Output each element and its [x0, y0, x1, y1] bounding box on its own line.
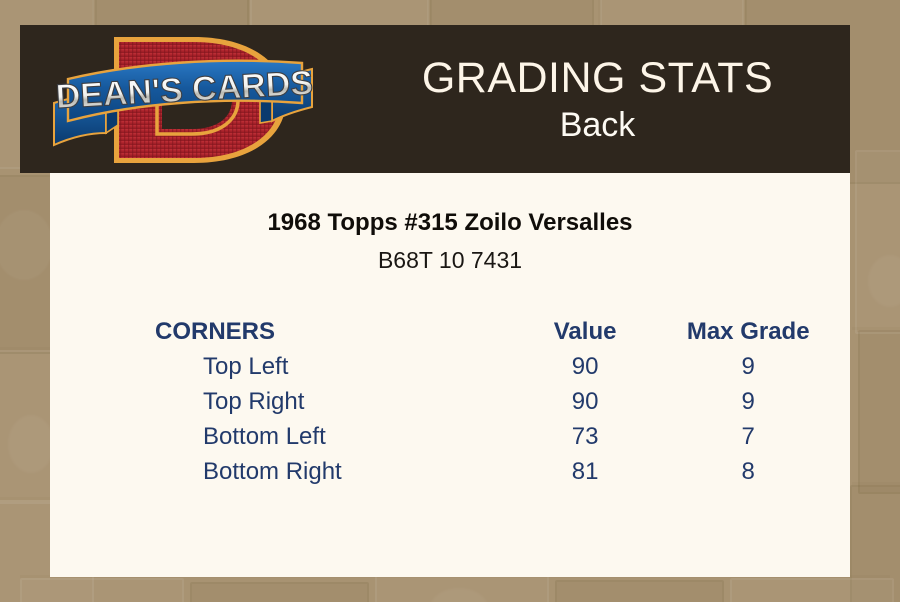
grading-stats-page: DEAN'S CARDS GRADING STATS Back 1968 Top…: [0, 0, 900, 602]
row-label: Bottom Left: [130, 419, 504, 454]
row-max-grade: 9: [666, 349, 830, 384]
card-name-heading: 1968 Topps #315 Zoilo Versalles: [50, 209, 850, 237]
content-panel: 1968 Topps #315 Zoilo Versalles B68T 10 …: [50, 173, 850, 577]
page-subtitle: Back: [560, 105, 636, 145]
row-label: Bottom Right: [130, 454, 504, 489]
table-row: Top Right 90 9: [130, 384, 830, 419]
row-label: Top Left: [130, 349, 504, 384]
card-id-text: B68T 10 7431: [50, 247, 850, 274]
page-title: GRADING STATS: [422, 53, 773, 103]
row-max-grade: 8: [666, 454, 830, 489]
row-max-grade: 7: [666, 419, 830, 454]
row-label: Top Right: [130, 384, 504, 419]
table-row: Bottom Left 73 7: [130, 419, 830, 454]
row-value: 90: [504, 384, 667, 419]
deans-cards-logo: DEAN'S CARDS: [44, 29, 324, 171]
grading-stats-table: CORNERS Value Max Grade Top Left 90 9 To…: [130, 314, 830, 489]
table-row: Top Left 90 9: [130, 349, 830, 384]
row-value: 90: [504, 349, 667, 384]
column-header-section: CORNERS: [130, 314, 504, 349]
column-header-value: Value: [504, 314, 667, 349]
row-max-grade: 9: [666, 384, 830, 419]
row-value: 73: [504, 419, 667, 454]
row-value: 81: [504, 454, 667, 489]
page-header: DEAN'S CARDS GRADING STATS Back: [20, 25, 850, 173]
table-header-row: CORNERS Value Max Grade: [130, 314, 830, 349]
header-title-block: GRADING STATS Back: [325, 25, 870, 173]
table-row: Bottom Right 81 8: [130, 454, 830, 489]
column-header-max-grade: Max Grade: [666, 314, 830, 349]
